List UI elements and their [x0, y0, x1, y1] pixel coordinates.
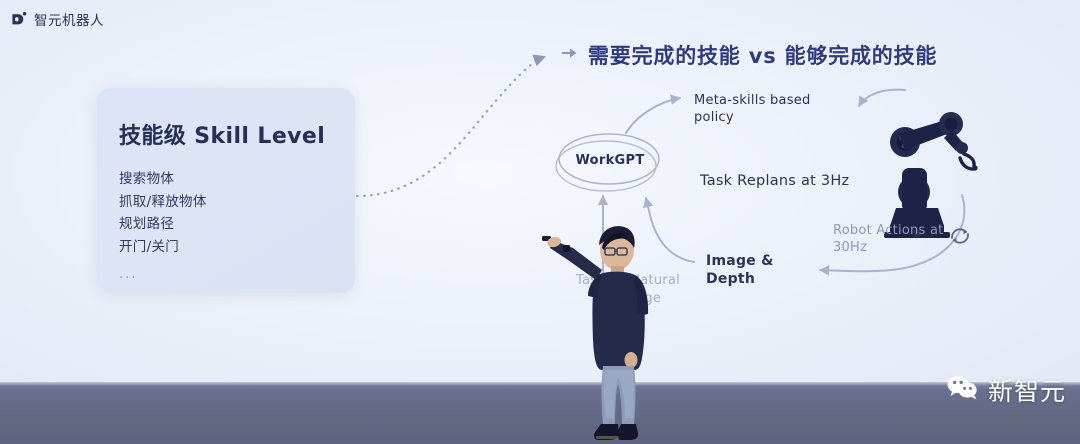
refresh-cycle-icon — [952, 229, 968, 242]
image-depth-label: Image & Depth — [706, 252, 796, 288]
slide-headline: 需要完成的技能 vs 能够完成的技能 — [562, 40, 937, 70]
watermark-text: 新智元 — [988, 372, 1066, 408]
meta-skills-label: Meta-skills based policy — [694, 92, 834, 126]
wechat-icon — [946, 374, 980, 407]
workgpt-node-label: WorkGPT — [574, 153, 646, 168]
watermark: 新智元 — [946, 372, 1066, 408]
robot-actions-label: Robot Actions at 30Hz — [833, 222, 953, 256]
page-title: 需要完成的技能 vs 能够完成的技能 — [588, 40, 937, 70]
arrow-right-icon — [562, 46, 578, 64]
task-replans-label: Task Replans at 3Hz — [700, 173, 849, 190]
brand-logo-group: 智元机器人 — [10, 9, 104, 29]
brand-name: 智元机器人 — [34, 9, 104, 29]
presenter-figure — [530, 218, 676, 444]
aixin-d-logo-icon — [10, 11, 27, 28]
presentation-stage: 智元机器人 技能级 Skill Level 搜索物体 抓取/释放物体 规划路径 … — [0, 0, 1080, 444]
